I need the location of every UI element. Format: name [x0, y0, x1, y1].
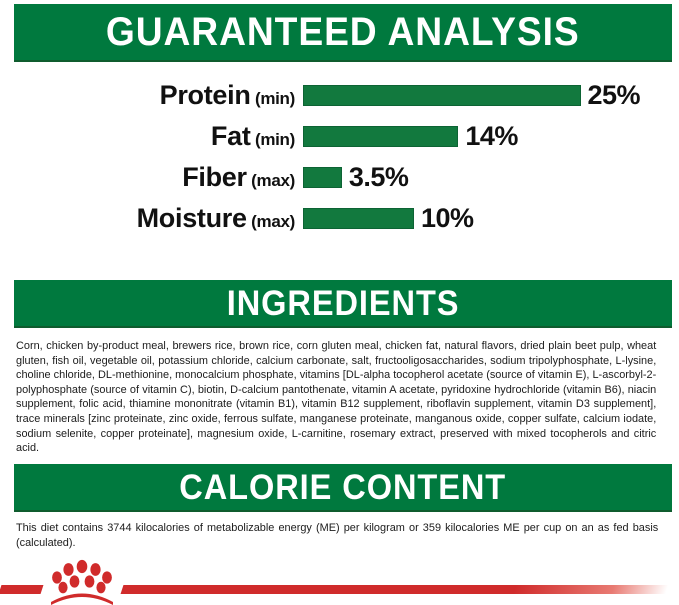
brand-rule-right: [121, 585, 669, 594]
analysis-nutrient-qualifier: (max): [247, 171, 295, 190]
analysis-row-label: Protein (min): [0, 82, 295, 109]
analysis-bar: [303, 167, 342, 188]
ingredients-title: INGREDIENTS: [227, 286, 460, 321]
analysis-row-label: Moisture (max): [0, 205, 295, 232]
guaranteed-analysis-header: GUARANTEED ANALYSIS: [14, 4, 672, 62]
analysis-value-label: 10%: [421, 203, 474, 234]
analysis-bar-track: 25%: [295, 76, 679, 114]
analysis-value-label: 14%: [465, 121, 518, 152]
analysis-bar: [303, 208, 414, 229]
royal-canin-crown-logo: [44, 556, 120, 605]
analysis-row: Fiber (max)3.5%: [0, 158, 679, 196]
analysis-bar-track: 14%: [295, 117, 679, 155]
guaranteed-analysis-title: GUARANTEED ANALYSIS: [106, 12, 580, 52]
brand-rule-left: [0, 585, 43, 594]
analysis-value-label: 25%: [588, 80, 641, 111]
footer-brand-rule: [0, 556, 679, 605]
calorie-content-text: This diet contains 3744 kilocalories of …: [16, 521, 658, 550]
analysis-row-label: Fat (min): [0, 123, 295, 150]
analysis-row: Fat (min)14%: [0, 117, 679, 155]
analysis-bar-track: 10%: [295, 199, 679, 237]
analysis-bar: [303, 85, 581, 106]
analysis-bar: [303, 126, 458, 147]
calorie-content-title: CALORIE CONTENT: [180, 470, 507, 505]
analysis-nutrient-name: Moisture: [137, 203, 247, 233]
analysis-row: Moisture (max)10%: [0, 199, 679, 237]
guaranteed-analysis-chart: Protein (min)25%Fat (min)14%Fiber (max)3…: [0, 76, 679, 241]
analysis-value-label: 3.5%: [349, 162, 409, 193]
analysis-nutrient-name: Fiber: [182, 162, 247, 192]
analysis-nutrient-qualifier: (max): [247, 212, 295, 231]
analysis-nutrient-name: Fat: [211, 121, 251, 151]
analysis-nutrient-qualifier: (min): [251, 89, 295, 108]
ingredients-text: Corn, chicken by-product meal, brewers r…: [16, 339, 656, 456]
analysis-nutrient-name: Protein: [160, 80, 251, 110]
analysis-bar-track: 3.5%: [295, 158, 679, 196]
ingredients-header: INGREDIENTS: [14, 280, 672, 328]
analysis-nutrient-qualifier: (min): [251, 130, 295, 149]
analysis-row-label: Fiber (max): [0, 164, 295, 191]
calorie-content-header: CALORIE CONTENT: [14, 464, 672, 512]
analysis-row: Protein (min)25%: [0, 76, 679, 114]
